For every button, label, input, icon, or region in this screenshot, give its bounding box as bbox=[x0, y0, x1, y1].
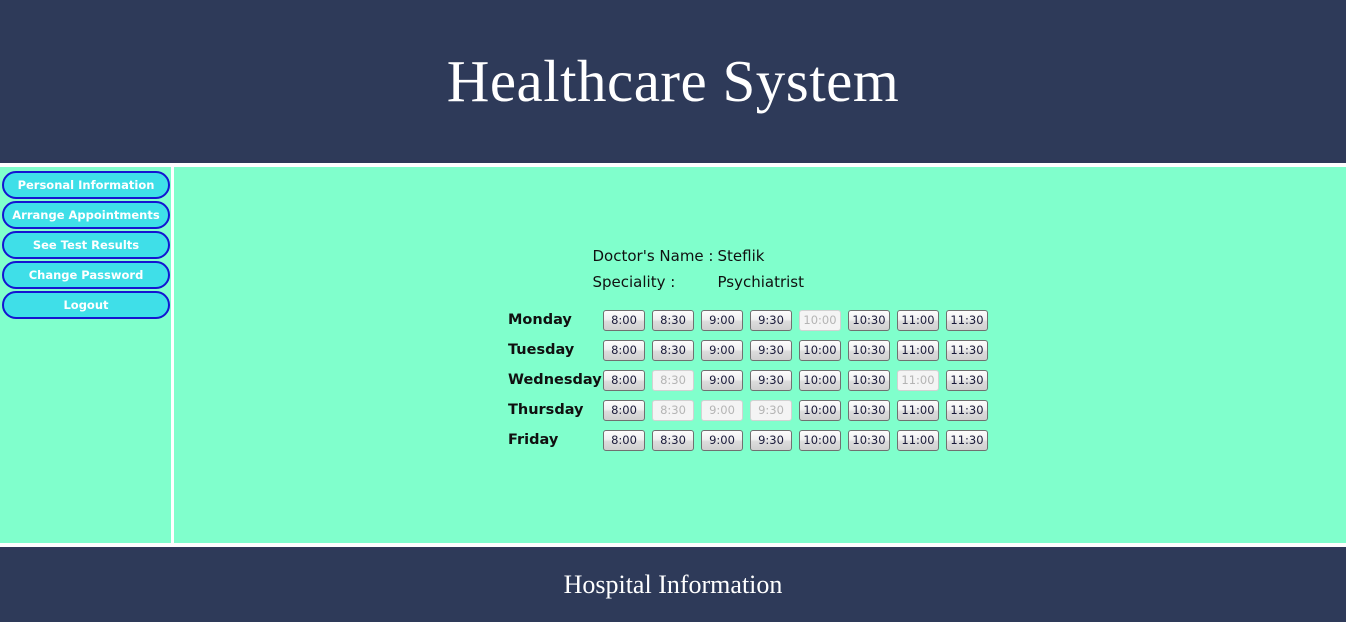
schedule-row: Thursday8:008:309:009:3010:0010:3011:001… bbox=[508, 395, 995, 425]
time-slot-button[interactable]: 9:00 bbox=[701, 340, 743, 361]
day-label: Friday bbox=[508, 432, 603, 448]
time-slot-button[interactable]: 8:00 bbox=[603, 430, 645, 451]
time-slot-button[interactable]: 8:00 bbox=[603, 400, 645, 421]
time-slot-button[interactable]: 10:30 bbox=[848, 370, 890, 391]
time-slot-button[interactable]: 10:00 bbox=[799, 340, 841, 361]
time-slot-button[interactable]: 8:30 bbox=[652, 340, 694, 361]
doctor-speciality-label: Speciality : bbox=[593, 273, 718, 291]
time-slot-button[interactable]: 11:00 bbox=[897, 400, 939, 421]
time-slot-button[interactable]: 11:30 bbox=[946, 370, 988, 391]
time-slot-button[interactable]: 9:30 bbox=[750, 310, 792, 331]
time-slot-button[interactable]: 9:00 bbox=[701, 310, 743, 331]
day-label: Wednesday bbox=[508, 372, 603, 388]
time-slot-button[interactable]: 11:00 bbox=[897, 430, 939, 451]
time-slot-button[interactable]: 10:30 bbox=[848, 430, 890, 451]
page-title: Healthcare System bbox=[447, 52, 899, 111]
day-label: Thursday bbox=[508, 402, 603, 418]
time-slot-button: 10:00 bbox=[799, 310, 841, 331]
time-slot-button[interactable]: 11:30 bbox=[946, 400, 988, 421]
time-slot-button[interactable]: 8:30 bbox=[652, 310, 694, 331]
time-slot-button[interactable]: 8:30 bbox=[652, 430, 694, 451]
app-header: Healthcare System bbox=[0, 0, 1346, 163]
time-slot-button: 11:00 bbox=[897, 370, 939, 391]
doctor-name-row: Doctor's Name : Steflik bbox=[174, 247, 1346, 273]
time-slot-button[interactable]: 8:00 bbox=[603, 370, 645, 391]
time-slot-button: 8:30 bbox=[652, 400, 694, 421]
time-slot-button[interactable]: 9:30 bbox=[750, 430, 792, 451]
time-slot-button[interactable]: 10:00 bbox=[799, 400, 841, 421]
time-slot-button: 9:00 bbox=[701, 400, 743, 421]
doctor-info: Doctor's Name : Steflik Speciality : Psy… bbox=[174, 247, 1346, 299]
sidebar-item-arrange-appointments[interactable]: Arrange Appointments bbox=[2, 201, 170, 229]
time-slot-button[interactable]: 11:30 bbox=[946, 340, 988, 361]
time-slot-button[interactable]: 10:00 bbox=[799, 370, 841, 391]
time-slot-button[interactable]: 11:00 bbox=[897, 340, 939, 361]
doctor-name-value: Steflik bbox=[718, 247, 928, 265]
time-slot-button: 9:30 bbox=[750, 400, 792, 421]
schedule-row: Friday8:008:309:009:3010:0010:3011:0011:… bbox=[508, 425, 995, 455]
time-slot-button[interactable]: 10:30 bbox=[848, 310, 890, 331]
time-slot-button[interactable]: 9:30 bbox=[750, 340, 792, 361]
time-slot-button[interactable]: 11:30 bbox=[946, 430, 988, 451]
schedule-row: Wednesday8:008:309:009:3010:0010:3011:00… bbox=[508, 365, 995, 395]
sidebar-item-logout[interactable]: Logout bbox=[2, 291, 170, 319]
time-slot-button[interactable]: 10:00 bbox=[799, 430, 841, 451]
time-slot-button[interactable]: 8:00 bbox=[603, 310, 645, 331]
doctor-speciality-value: Psychiatrist bbox=[718, 273, 928, 291]
time-slot-button[interactable]: 11:00 bbox=[897, 310, 939, 331]
sidebar-item-personal-information[interactable]: Personal Information bbox=[2, 171, 170, 199]
doctor-name-label: Doctor's Name : bbox=[593, 247, 718, 265]
footer-title: Hospital Information bbox=[564, 570, 783, 600]
time-slot-button[interactable]: 8:00 bbox=[603, 340, 645, 361]
time-slot-button[interactable]: 9:30 bbox=[750, 370, 792, 391]
time-slot-button[interactable]: 9:00 bbox=[701, 430, 743, 451]
sidebar-nav: Personal Information Arrange Appointment… bbox=[0, 167, 171, 543]
day-label: Monday bbox=[508, 312, 603, 328]
day-label: Tuesday bbox=[508, 342, 603, 358]
schedule-row: Tuesday8:008:309:009:3010:0010:3011:0011… bbox=[508, 335, 995, 365]
time-slot-button[interactable]: 11:30 bbox=[946, 310, 988, 331]
schedule-row: Monday8:008:309:009:3010:0010:3011:0011:… bbox=[508, 305, 995, 335]
sidebar-item-see-test-results[interactable]: See Test Results bbox=[2, 231, 170, 259]
app-footer: Hospital Information bbox=[0, 547, 1346, 622]
doctor-speciality-row: Speciality : Psychiatrist bbox=[174, 273, 1346, 299]
body-region: Personal Information Arrange Appointment… bbox=[0, 167, 1346, 543]
app-page: Healthcare System Personal Information A… bbox=[0, 0, 1346, 622]
time-slot-button[interactable]: 10:30 bbox=[848, 400, 890, 421]
appointment-schedule: Monday8:008:309:009:3010:0010:3011:0011:… bbox=[508, 305, 995, 455]
time-slot-button: 8:30 bbox=[652, 370, 694, 391]
main-content: Doctor's Name : Steflik Speciality : Psy… bbox=[174, 167, 1346, 543]
time-slot-button[interactable]: 10:30 bbox=[848, 340, 890, 361]
sidebar-item-change-password[interactable]: Change Password bbox=[2, 261, 170, 289]
time-slot-button[interactable]: 9:00 bbox=[701, 370, 743, 391]
